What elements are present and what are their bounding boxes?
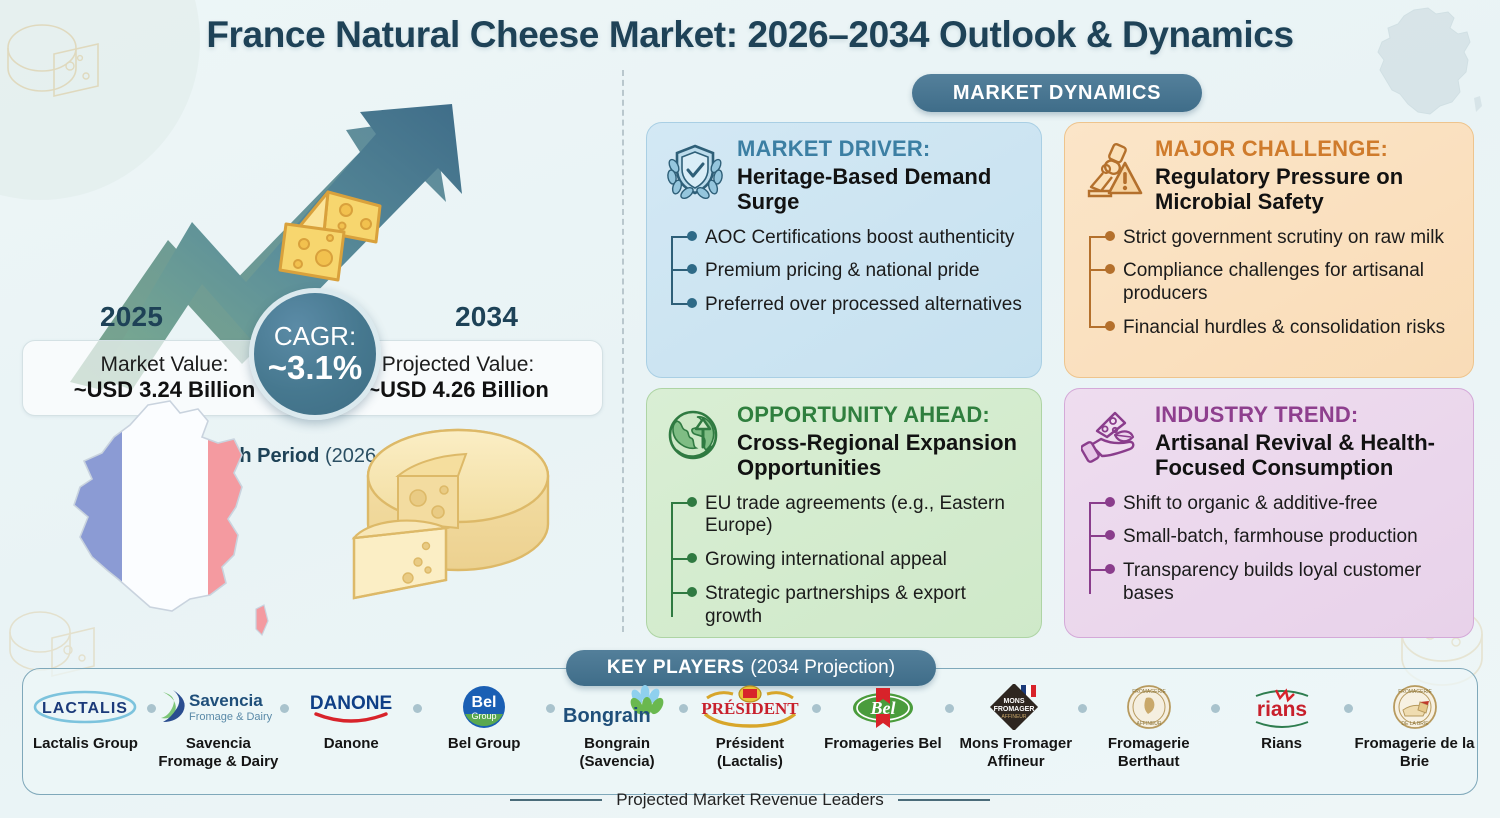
bullet-text: Compliance challenges for artisanal prod… — [1123, 260, 1424, 304]
bullet-text: Transparency builds loyal customer bases — [1123, 560, 1421, 604]
card-opportunity-ahead[interactable]: OPPORTUNITY AHEAD: Cross-Regional Expans… — [646, 388, 1042, 638]
card-major-challenge[interactable]: MAJOR CHALLENGE: Regulatory Pressure on … — [1064, 122, 1474, 378]
card-kicker: MARKET DRIVER: — [737, 137, 1025, 162]
player-name: Fromagerie de la Brie — [1353, 735, 1476, 770]
list-item[interactable]: Bel Group Bel Group — [423, 684, 546, 753]
key-players-badge-rest: (2034 Projection) — [750, 657, 895, 679]
svg-text:LACTALIS: LACTALIS — [42, 700, 128, 717]
brie-logo: FROMAGERIE DE LA BRIE — [1390, 684, 1440, 730]
bullet-text: Growing international appeal — [705, 549, 947, 570]
list-item[interactable]: FROMAGERIE DE LA BRIE Fromagerie de la B… — [1353, 684, 1476, 770]
svg-text:Bel: Bel — [869, 698, 895, 718]
key-players-badge-bold: KEY PLAYERS — [607, 657, 745, 679]
market-overview-panel: 2025 2034 Market Value: ~USD 3.24 Billio… — [0, 90, 620, 400]
svg-text:FROMAGERIE: FROMAGERIE — [1132, 689, 1166, 695]
bullet-text: Strategic partnerships & export growth — [705, 583, 966, 627]
card-header: MAJOR CHALLENGE: Regulatory Pressure on … — [1081, 137, 1457, 215]
svg-text:AFFINEUR: AFFINEUR — [1001, 714, 1026, 720]
svg-text:DE LA BRIE: DE LA BRIE — [1401, 721, 1429, 727]
player-name: Bongrain (Savencia) — [556, 735, 679, 770]
player-name: Danone — [324, 735, 379, 753]
projected-value-amount: ~USD 4.26 Billion — [367, 377, 549, 403]
list-item[interactable]: rians Rians — [1220, 684, 1343, 753]
cheese-wheel-illustration — [320, 410, 610, 635]
list-item[interactable]: PRÉSIDENT Président (Lactalis) — [689, 684, 812, 770]
bullet-text: Financial hurdles & consolidation risks — [1123, 317, 1445, 338]
bullet-dot-icon — [687, 587, 697, 597]
bullet-dot-icon — [1105, 264, 1115, 274]
france-flag-map-graphic — [30, 395, 300, 645]
infographic-page: France Natural Cheese Market: 2026–2034 … — [0, 0, 1500, 818]
card-title-block: INDUSTRY TREND: Artisanal Revival & Heal… — [1155, 403, 1457, 481]
fromageries-bel-logo: Bel — [847, 684, 919, 730]
key-players-caption: Projected Market Revenue Leaders — [0, 790, 1500, 810]
list-item: Growing international appeal — [689, 549, 1025, 572]
card-market-driver[interactable]: MARKET DRIVER: Heritage-Based Demand Sur… — [646, 122, 1042, 378]
svg-text:Bongrain: Bongrain — [563, 705, 651, 727]
card-bullet-list: EU trade agreements (e.g., Eastern Europ… — [663, 493, 1025, 629]
list-item: Compliance challenges for artisanal prod… — [1107, 260, 1457, 306]
svg-text:FROMAGER: FROMAGER — [993, 706, 1034, 713]
list-item: AOC Certifications boost authenticity — [689, 227, 1025, 250]
rians-logo: rians — [1240, 684, 1324, 730]
president-logo: PRÉSIDENT — [695, 684, 805, 730]
list-item[interactable]: LACTALIS Lactalis Group — [24, 684, 147, 753]
market-value-caption: Market Value: — [101, 353, 229, 377]
svg-text:PRÉSIDENT: PRÉSIDENT — [701, 699, 799, 718]
list-item: Transparency builds loyal customer bases — [1107, 560, 1457, 606]
year-label-end: 2034 — [455, 301, 518, 333]
list-item: Shift to organic & additive-free — [1107, 493, 1457, 516]
separator-dot — [679, 684, 689, 713]
bullet-dot-icon — [1105, 321, 1115, 331]
microscope-warning-icon — [1081, 139, 1145, 203]
card-kicker: INDUSTRY TREND: — [1155, 403, 1457, 428]
player-name: Fromagerie Berthaut — [1087, 735, 1210, 770]
bullet-dot-icon — [1105, 231, 1115, 241]
bullet-spine — [1089, 502, 1091, 594]
bel-group-logo: Bel Group — [456, 684, 512, 730]
hand-cheese-leaf-icon — [1081, 405, 1145, 469]
bullet-spine — [1089, 236, 1091, 328]
bullet-dot-icon — [1105, 564, 1115, 574]
bullet-dot-icon — [687, 264, 697, 274]
separator-dot — [280, 684, 290, 713]
page-title: France Natural Cheese Market: 2026–2034 … — [0, 14, 1500, 56]
player-name: Fromageries Bel — [824, 735, 942, 753]
player-name: Président (Lactalis) — [689, 735, 812, 770]
svg-text:Fromage & Dairy: Fromage & Dairy — [189, 711, 273, 723]
bullet-text: Preferred over processed alternatives — [705, 294, 1022, 315]
separator-dot — [1210, 684, 1220, 713]
svg-text:Savencia: Savencia — [189, 691, 263, 710]
year-label-start: 2025 — [100, 301, 163, 333]
bullet-dot-icon — [687, 553, 697, 563]
cagr-value: ~3.1% — [268, 351, 363, 385]
svg-text:AFFINEUR: AFFINEUR — [1136, 721, 1161, 727]
shield-check-laurel-icon — [663, 139, 727, 203]
card-title-block: MAJOR CHALLENGE: Regulatory Pressure on … — [1155, 137, 1457, 215]
bullet-text: Premium pricing & national pride — [705, 260, 980, 281]
card-kicker: OPPORTUNITY AHEAD: — [737, 403, 1025, 428]
caption-text: Projected Market Revenue Leaders — [616, 790, 883, 810]
card-header: OPPORTUNITY AHEAD: Cross-Regional Expans… — [663, 403, 1025, 481]
card-headline: Regulatory Pressure on Microbial Safety — [1155, 164, 1457, 215]
separator-dot — [413, 684, 423, 713]
separator-dot — [1343, 684, 1353, 713]
bullet-dot-icon — [687, 298, 697, 308]
list-item: Small-batch, farmhouse production — [1107, 526, 1457, 549]
card-bullet-list: Strict government scrutiny on raw milk C… — [1081, 227, 1457, 340]
card-kicker: MAJOR CHALLENGE: — [1155, 137, 1457, 162]
vertical-divider — [622, 70, 624, 632]
svg-text:MONS: MONS — [1003, 698, 1024, 705]
card-bullet-list: Shift to organic & additive-free Small-b… — [1081, 493, 1457, 606]
bongrain-logo: Bongrain — [559, 684, 675, 730]
player-name: Savencia Fromage & Dairy — [157, 735, 280, 770]
bullet-dot-icon — [1105, 530, 1115, 540]
separator-dot — [546, 684, 556, 713]
card-title-block: OPPORTUNITY AHEAD: Cross-Regional Expans… — [737, 403, 1025, 481]
bullet-text: EU trade agreements (e.g., Eastern Europ… — [705, 493, 1005, 537]
caption-rule-left — [510, 799, 602, 801]
player-name: Rians — [1261, 735, 1302, 753]
cheese-wedges-icon — [272, 180, 390, 292]
svg-text:rians: rians — [1257, 698, 1307, 721]
bullet-text: AOC Certifications boost authenticity — [705, 227, 1014, 248]
bullet-dot-icon — [687, 497, 697, 507]
savencia-logo: Savencia Fromage & Dairy — [153, 684, 283, 730]
lactalis-logo: LACTALIS — [31, 684, 139, 730]
player-name: Bel Group — [448, 735, 521, 753]
mons-fromager-logo: MONS FROMAGER AFFINEUR — [983, 684, 1049, 730]
list-item[interactable]: Bongrain Bongrain (Savencia) — [556, 684, 679, 770]
card-bullet-list: AOC Certifications boost authenticity Pr… — [663, 227, 1025, 317]
market-dynamics-badge: MARKET DYNAMICS — [912, 74, 1202, 112]
bullet-dot-icon — [1105, 497, 1115, 507]
player-name: Lactalis Group — [33, 735, 138, 753]
card-headline: Cross-Regional Expansion Opportunities — [737, 430, 1025, 481]
card-header: MARKET DRIVER: Heritage-Based Demand Sur… — [663, 137, 1025, 215]
card-header: INDUSTRY TREND: Artisanal Revival & Heal… — [1081, 403, 1457, 481]
list-item: EU trade agreements (e.g., Eastern Europ… — [689, 493, 1025, 539]
card-industry-trend[interactable]: INDUSTRY TREND: Artisanal Revival & Heal… — [1064, 388, 1474, 638]
list-item[interactable]: FROMAGERIE AFFINEUR Fromagerie Berthaut — [1087, 684, 1210, 770]
list-item[interactable]: Savencia Fromage & Dairy Savencia Fromag… — [157, 684, 280, 770]
berthaut-logo: FROMAGERIE AFFINEUR — [1124, 684, 1174, 730]
list-item: Preferred over processed alternatives — [689, 294, 1025, 317]
svg-text:Group: Group — [472, 711, 497, 721]
bullet-dot-icon — [687, 231, 697, 241]
cagr-label: CAGR: — [274, 323, 356, 350]
svg-text:DANONE: DANONE — [310, 693, 392, 714]
svg-text:FROMAGERIE: FROMAGERIE — [1398, 689, 1432, 695]
list-item: Strategic partnerships & export growth — [689, 583, 1025, 629]
bullet-text: Shift to organic & additive-free — [1123, 493, 1378, 514]
bullet-text: Strict government scrutiny on raw milk — [1123, 227, 1444, 248]
separator-dot — [1077, 684, 1087, 713]
separator-dot — [944, 684, 954, 713]
globe-arrow-icon — [663, 405, 727, 469]
list-item[interactable]: DANONE Danone — [290, 684, 413, 753]
danone-logo: DANONE — [296, 684, 406, 730]
card-headline: Heritage-Based Demand Surge — [737, 164, 1025, 215]
list-item: Premium pricing & national pride — [689, 260, 1025, 283]
caption-rule-right — [898, 799, 990, 801]
list-item: Strict government scrutiny on raw milk — [1107, 227, 1457, 250]
separator-dot — [811, 684, 821, 713]
svg-text:Bel: Bel — [472, 694, 497, 711]
card-headline: Artisanal Revival & Health-Focused Consu… — [1155, 430, 1457, 481]
list-item[interactable]: MONS FROMAGER AFFINEUR Mons Fromager Aff… — [954, 684, 1077, 770]
key-players-badge: KEY PLAYERS (2034 Projection) — [566, 650, 936, 686]
bullet-text: Small-batch, farmhouse production — [1123, 526, 1418, 547]
player-name: Mons Fromager Affineur — [954, 735, 1077, 770]
list-item: Financial hurdles & consolidation risks — [1107, 317, 1457, 340]
card-title-block: MARKET DRIVER: Heritage-Based Demand Sur… — [737, 137, 1025, 215]
list-item[interactable]: Bel Fromageries Bel — [821, 684, 944, 753]
projected-value-caption: Projected Value: — [382, 353, 535, 377]
key-players-list: LACTALIS Lactalis Group Savencia Fromage… — [24, 684, 1476, 789]
